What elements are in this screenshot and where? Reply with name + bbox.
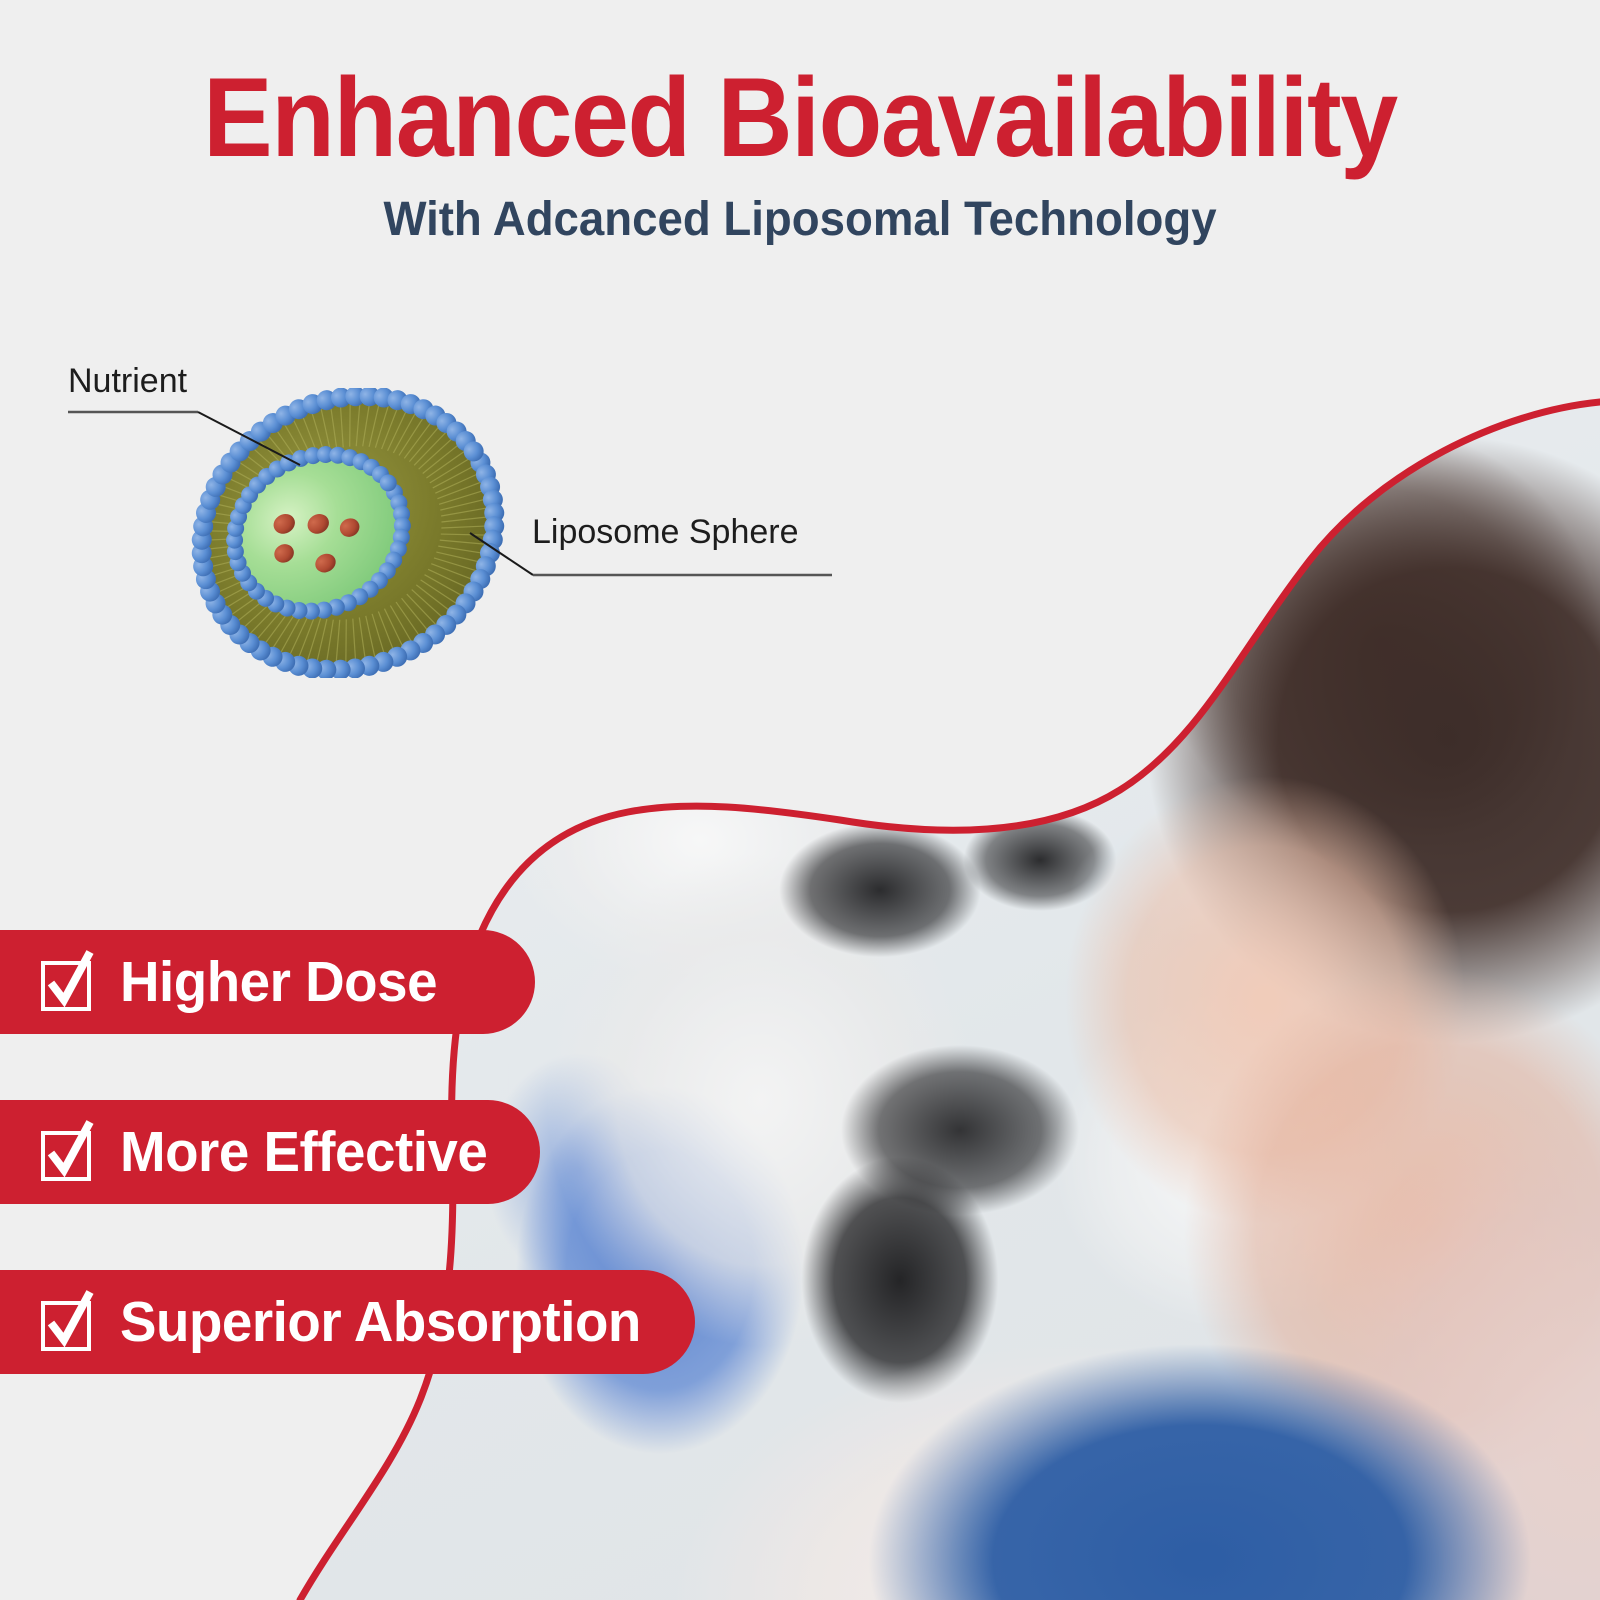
diagram-label-nutrient: Nutrient [68,362,187,401]
page-title: Enhanced Bioavailability [56,62,1544,174]
benefit-badge-label: More Effective [120,1124,487,1181]
diagram-label-liposome-sphere: Liposome Sphere [532,513,799,552]
benefit-badge-label: Higher Dose [120,954,437,1011]
benefit-badge-label: Superior Absorption [120,1294,641,1351]
checkbox-checked-icon [38,1290,102,1354]
benefit-badge-superior-absorption[interactable]: Superior Absorption [0,1270,695,1374]
benefit-badge-more-effective[interactable]: More Effective [0,1100,540,1204]
page-subtitle: With Adcanced Liposomal Technology [40,192,1560,247]
benefit-badge-higher-dose[interactable]: Higher Dose [0,930,535,1034]
poster-root: Enhanced Bioavailability With Adcanced L… [0,0,1600,1600]
checkbox-checked-icon [38,1120,102,1184]
checkbox-checked-icon [38,950,102,1014]
liposome-diagram [178,388,518,678]
